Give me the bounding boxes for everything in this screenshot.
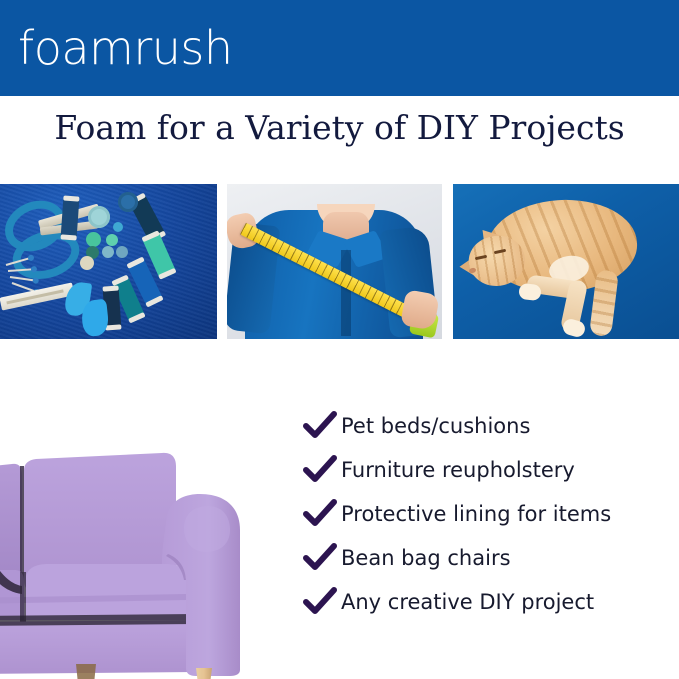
sofa-seat-cushion-right	[26, 564, 186, 620]
benefits-checklist: Pet beds/cushions Furniture reupholstery…	[303, 406, 679, 626]
sofa-arm-roll	[184, 506, 230, 552]
button-icon	[106, 234, 118, 246]
button-icon	[88, 206, 110, 228]
cat-on-cushion-photo	[453, 184, 679, 339]
list-item: Bean bag chairs	[303, 538, 679, 578]
cat-paw-tip	[518, 283, 542, 301]
sewing-pins-icon	[6, 262, 52, 286]
list-item-label: Furniture reupholstery	[341, 457, 575, 483]
button-icon	[80, 256, 94, 270]
sofa-leg-front	[196, 668, 212, 679]
list-item: Any creative DIY project	[303, 582, 679, 622]
sofa-base-shadow	[0, 614, 196, 626]
shirt-placket	[341, 250, 351, 336]
button-icon	[113, 222, 123, 232]
list-item-label: Bean bag chairs	[341, 545, 511, 571]
thread-spool-icon	[60, 195, 79, 240]
check-icon	[303, 587, 341, 617]
page-title: Foam for a Variety of DIY Projects	[0, 106, 679, 150]
measuring-tape-photo	[227, 184, 442, 339]
brand-logo-text: foamrush	[18, 22, 233, 74]
button-icon	[116, 246, 128, 258]
list-item: Protective lining for items	[303, 494, 679, 534]
check-icon	[303, 543, 341, 573]
sofa-base	[0, 620, 196, 674]
brand-logo[interactable]: foamrush	[18, 22, 233, 74]
list-item: Furniture reupholstery	[303, 450, 679, 490]
lavender-sofa-illustration	[0, 432, 264, 679]
button-icon	[86, 232, 101, 247]
button-icon	[118, 192, 138, 212]
promo-page: foamrush Foam for a Variety of DIY Proje…	[0, 0, 679, 679]
check-icon	[303, 411, 341, 441]
sewing-supplies-photo	[0, 184, 217, 339]
brand-banner: foamrush	[0, 0, 679, 96]
sofa-seat-gap	[20, 572, 26, 622]
button-icon	[102, 246, 114, 258]
list-item-label: Protective lining for items	[341, 501, 611, 527]
list-item-label: Pet beds/cushions	[341, 413, 530, 439]
photo-strip	[0, 184, 679, 339]
sofa-leg-back	[76, 664, 96, 679]
list-item: Pet beds/cushions	[303, 406, 679, 446]
check-icon	[303, 499, 341, 529]
list-item-label: Any creative DIY project	[341, 589, 594, 615]
check-icon	[303, 455, 341, 485]
